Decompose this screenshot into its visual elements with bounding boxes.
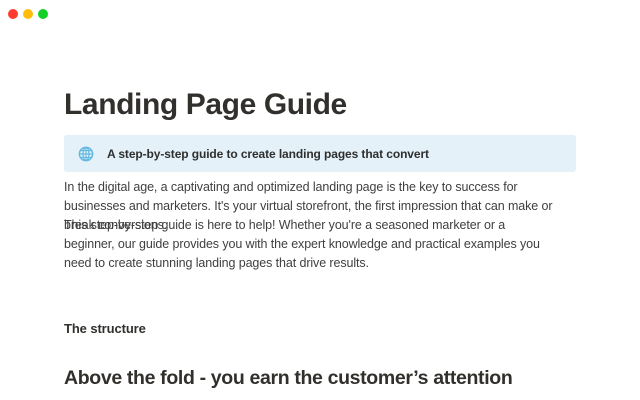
body-paragraph: This step-by-step guide is here to help!… (64, 216, 554, 273)
close-window-button[interactable] (8, 9, 18, 19)
section-heading-small: The structure (64, 320, 146, 337)
callout-banner: A step-by-step guide to create landing p… (64, 135, 576, 172)
page-title: Landing Page Guide (64, 88, 347, 122)
document-canvas: Landing Page Guide A step-by-step guide … (0, 28, 640, 400)
maximize-window-button[interactable] (38, 9, 48, 19)
minimize-window-button[interactable] (23, 9, 33, 19)
window-controls (8, 9, 48, 19)
callout-text: A step-by-step guide to create landing p… (107, 146, 429, 162)
globe-icon (78, 146, 94, 162)
window-titlebar (0, 0, 640, 28)
section-heading-large: Above the fold - you earn the customer’s… (64, 365, 512, 391)
